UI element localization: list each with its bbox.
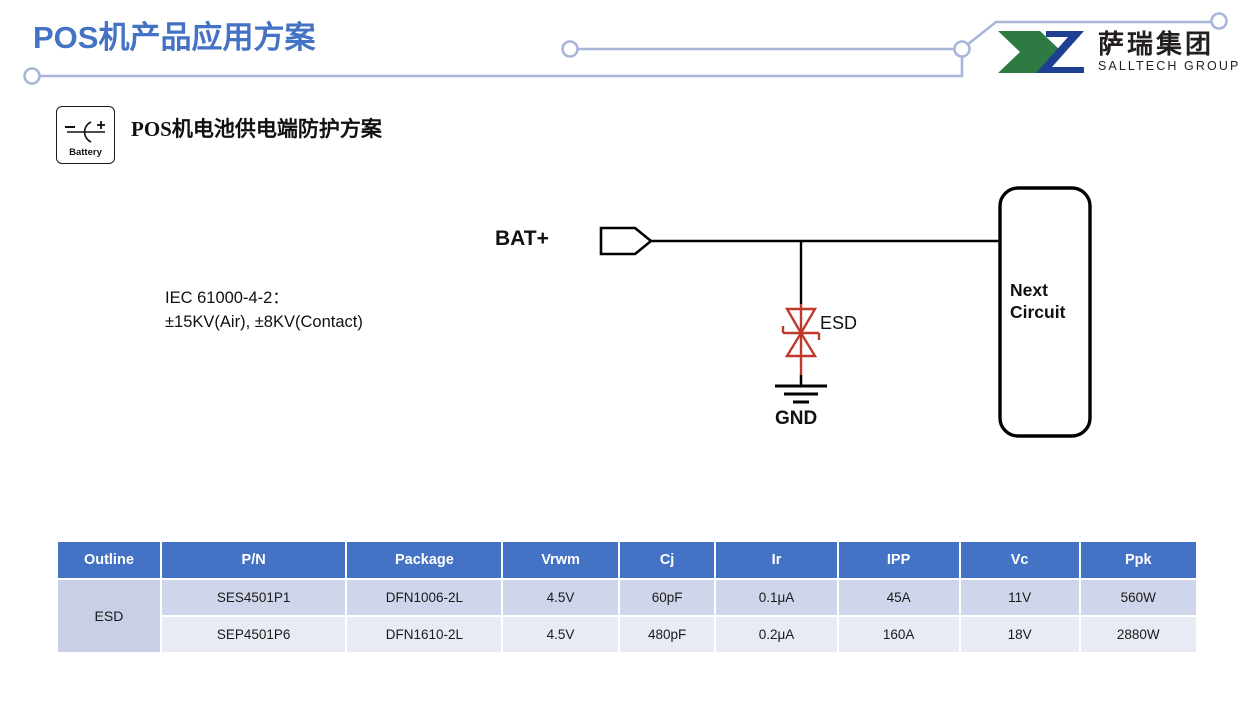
cell-package: DFN1610-2L	[347, 617, 503, 654]
iec-levels: ±15KV(Air), ±8KV(Contact)	[165, 311, 363, 335]
esd-label: ESD	[820, 313, 857, 334]
cell-cj: 60pF	[620, 580, 717, 617]
cell-ir: 0.2μA	[716, 617, 838, 654]
cell-pn: SEP4501P6	[162, 617, 348, 654]
deco-circle-left	[25, 69, 40, 84]
col-header-vc: Vc	[961, 542, 1081, 580]
cell-vrwm: 4.5V	[503, 617, 619, 654]
bat-connector-icon	[601, 228, 651, 254]
col-header-outline: Outline	[58, 542, 162, 580]
battery-icon-label: Battery	[57, 147, 114, 158]
spec-table: Outline P/N Package Vrwm Cj Ir IPP Vc Pp…	[58, 542, 1196, 654]
cell-outline-group: ESD	[58, 580, 162, 654]
col-header-pn: P/N	[162, 542, 348, 580]
cell-vrwm: 4.5V	[503, 580, 619, 617]
battery-icon: Battery	[56, 106, 115, 164]
bat-plus-label: BAT+	[495, 227, 549, 251]
cell-cj: 480pF	[620, 617, 717, 654]
cell-pn: SES4501P1	[162, 580, 348, 617]
cell-ir: 0.1μA	[716, 580, 838, 617]
col-header-ipp: IPP	[839, 542, 961, 580]
cell-ipp: 160A	[839, 617, 961, 654]
slide-canvas: POS机产品应用方案 萨瑞集团 SALLTECH GROUP	[0, 0, 1254, 705]
table-row: ESD SES4501P1 DFN1006-2L 4.5V 60pF 0.1μA…	[58, 580, 1196, 617]
page-title: POS机产品应用方案	[33, 12, 315, 57]
esd-tvs-diode-symbol	[783, 304, 819, 383]
col-header-ppk: Ppk	[1081, 542, 1196, 580]
table-header-row: Outline P/N Package Vrwm Cj Ir IPP Vc Pp…	[58, 542, 1196, 580]
iec-standard: IEC 61000-4-2：	[165, 287, 363, 311]
section-heading: POS机电池供电端防护方案	[131, 113, 382, 143]
next-circuit-label: Next Circuit	[1010, 280, 1065, 324]
cell-vc: 18V	[961, 617, 1081, 654]
logo-name-en: SALLTECH GROUP	[1098, 60, 1240, 73]
cell-package: DFN1006-2L	[347, 580, 503, 617]
company-logo: 萨瑞集团 SALLTECH GROUP	[996, 26, 1228, 78]
spec-table-body: ESD SES4501P1 DFN1006-2L 4.5V 60pF 0.1μA…	[58, 580, 1196, 654]
logo-text-block: 萨瑞集团 SALLTECH GROUP	[1098, 31, 1240, 73]
cell-ppk: 560W	[1081, 580, 1196, 617]
col-header-cj: Cj	[620, 542, 717, 580]
cell-vc: 11V	[961, 580, 1081, 617]
next-circuit-label-line2: Circuit	[1010, 302, 1065, 324]
next-circuit-label-line1: Next	[1010, 280, 1065, 302]
logo-green-shape	[998, 31, 1062, 73]
iec-note: IEC 61000-4-2： ±15KV(Air), ±8KV(Contact)	[165, 287, 363, 335]
logo-name-cn: 萨瑞集团	[1098, 31, 1240, 57]
cell-ipp: 45A	[839, 580, 961, 617]
col-header-package: Package	[347, 542, 503, 580]
gnd-label: GND	[775, 408, 817, 430]
col-header-vrwm: Vrwm	[503, 542, 619, 580]
table-row: SEP4501P6 DFN1610-2L 4.5V 480pF 0.2μA 16…	[58, 617, 1196, 654]
ground-symbol-icon	[775, 386, 827, 402]
circuit-diagram: BAT+ ESD GND Next Circuit	[470, 170, 1130, 460]
spec-table-head: Outline P/N Package Vrwm Cj Ir IPP Vc Pp…	[58, 542, 1196, 580]
deco-circle-junction	[955, 42, 970, 57]
deco-circle-middle	[563, 42, 578, 57]
salltech-logo-mark	[996, 27, 1088, 77]
col-header-ir: Ir	[716, 542, 838, 580]
cell-ppk: 2880W	[1081, 617, 1196, 654]
